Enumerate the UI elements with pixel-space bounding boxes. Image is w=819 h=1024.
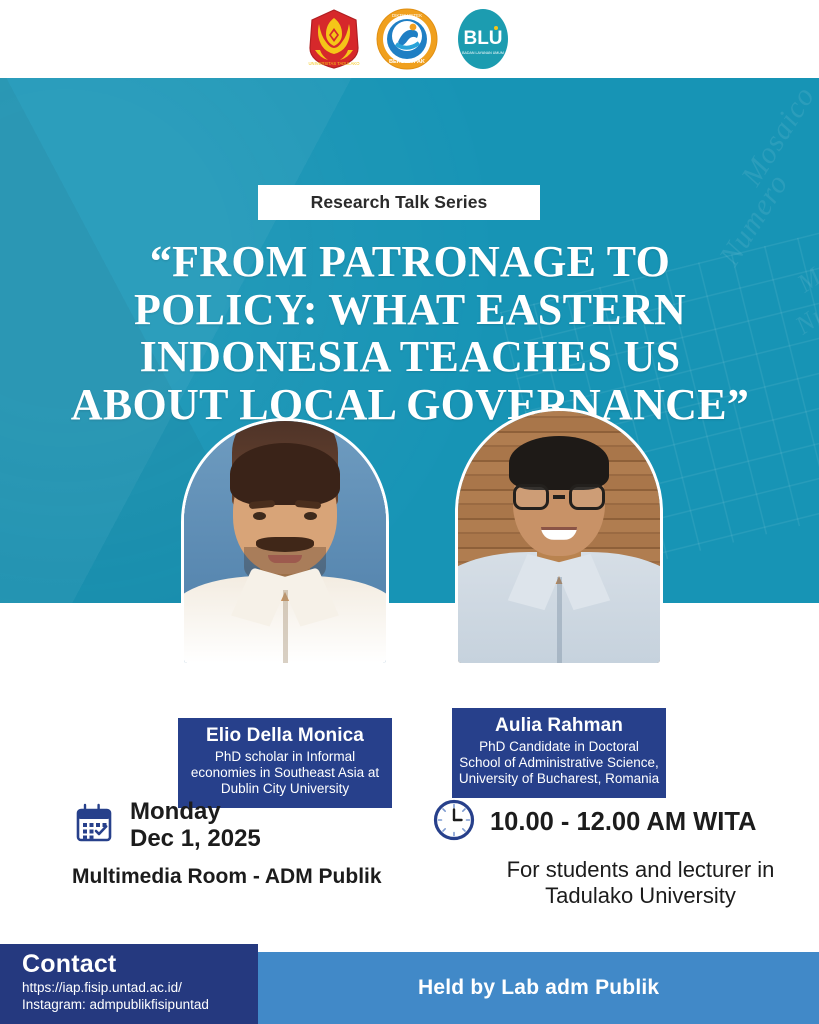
event-venue: Multimedia Room - ADM Publik xyxy=(72,865,382,889)
universitas-tadulako-logo: UNIVERSITAS TADULAKO xyxy=(306,8,362,70)
contact-instagram[interactable]: Instagram: admpublikfisipuntad xyxy=(22,996,258,1014)
svg-text:BADAN LAYANAN UMUM: BADAN LAYANAN UMUM xyxy=(462,51,504,55)
speaker-name: Elio Della Monica xyxy=(184,725,386,747)
clock-icon xyxy=(432,798,476,847)
svg-text:BERDAMPAK: BERDAMPAK xyxy=(389,59,425,65)
held-by-label: Held by Lab adm Publik xyxy=(418,976,659,1000)
speaker-nameplate-aulia: Aulia Rahman PhD Candidate in Doctoral S… xyxy=(452,708,666,798)
svg-text:BLU: BLU xyxy=(463,28,502,49)
speaker-photo-elio xyxy=(181,418,389,666)
speaker-name: Aulia Rahman xyxy=(458,715,660,737)
contact-title: Contact xyxy=(22,950,258,979)
blu-logo: BLU BADAN LAYANAN UMUM xyxy=(452,8,514,70)
event-date: Dec 1, 2025 xyxy=(130,825,261,852)
time-audience-block: 10.00 - 12.00 AM WITA For students and l… xyxy=(432,798,819,909)
speaker-role: PhD Candidate in Doctoral School of Admi… xyxy=(458,739,660,788)
svg-text:UNIVERSITAS TADULAKO: UNIVERSITAS TADULAKO xyxy=(308,61,360,66)
logo-strip: UNIVERSITAS TADULAKO DIKTISAINTEK BERDAM… xyxy=(0,0,819,78)
diktisaintek-berdampak-logo: DIKTISAINTEK BERDAMPAK xyxy=(376,8,438,70)
contact-box: Contact https://iap.fisip.untad.ac.id/ I… xyxy=(0,944,258,1024)
event-poster: UNIVERSITAS TADULAKO DIKTISAINTEK BERDAM… xyxy=(0,0,819,1024)
event-audience: For students and lecturer in Tadulako Un… xyxy=(462,857,819,909)
event-day: Monday xyxy=(130,798,261,825)
contact-website[interactable]: https://iap.fisip.untad.ac.id/ xyxy=(22,979,258,997)
event-details-section: Monday Dec 1, 2025 Multimedia Room - ADM… xyxy=(0,790,819,940)
event-time: 10.00 - 12.00 AM WITA xyxy=(490,808,756,837)
speaker-card-elio xyxy=(181,418,389,666)
speakers-section: Elio Della Monica PhD scholar in Informa… xyxy=(0,78,819,758)
calendar-icon xyxy=(72,801,116,850)
svg-text:DIKTISAINTEK: DIKTISAINTEK xyxy=(391,13,421,18)
speaker-photo-aulia xyxy=(455,408,663,666)
date-venue-block: Monday Dec 1, 2025 Multimedia Room - ADM… xyxy=(72,798,382,889)
speaker-card-aulia xyxy=(455,408,663,666)
